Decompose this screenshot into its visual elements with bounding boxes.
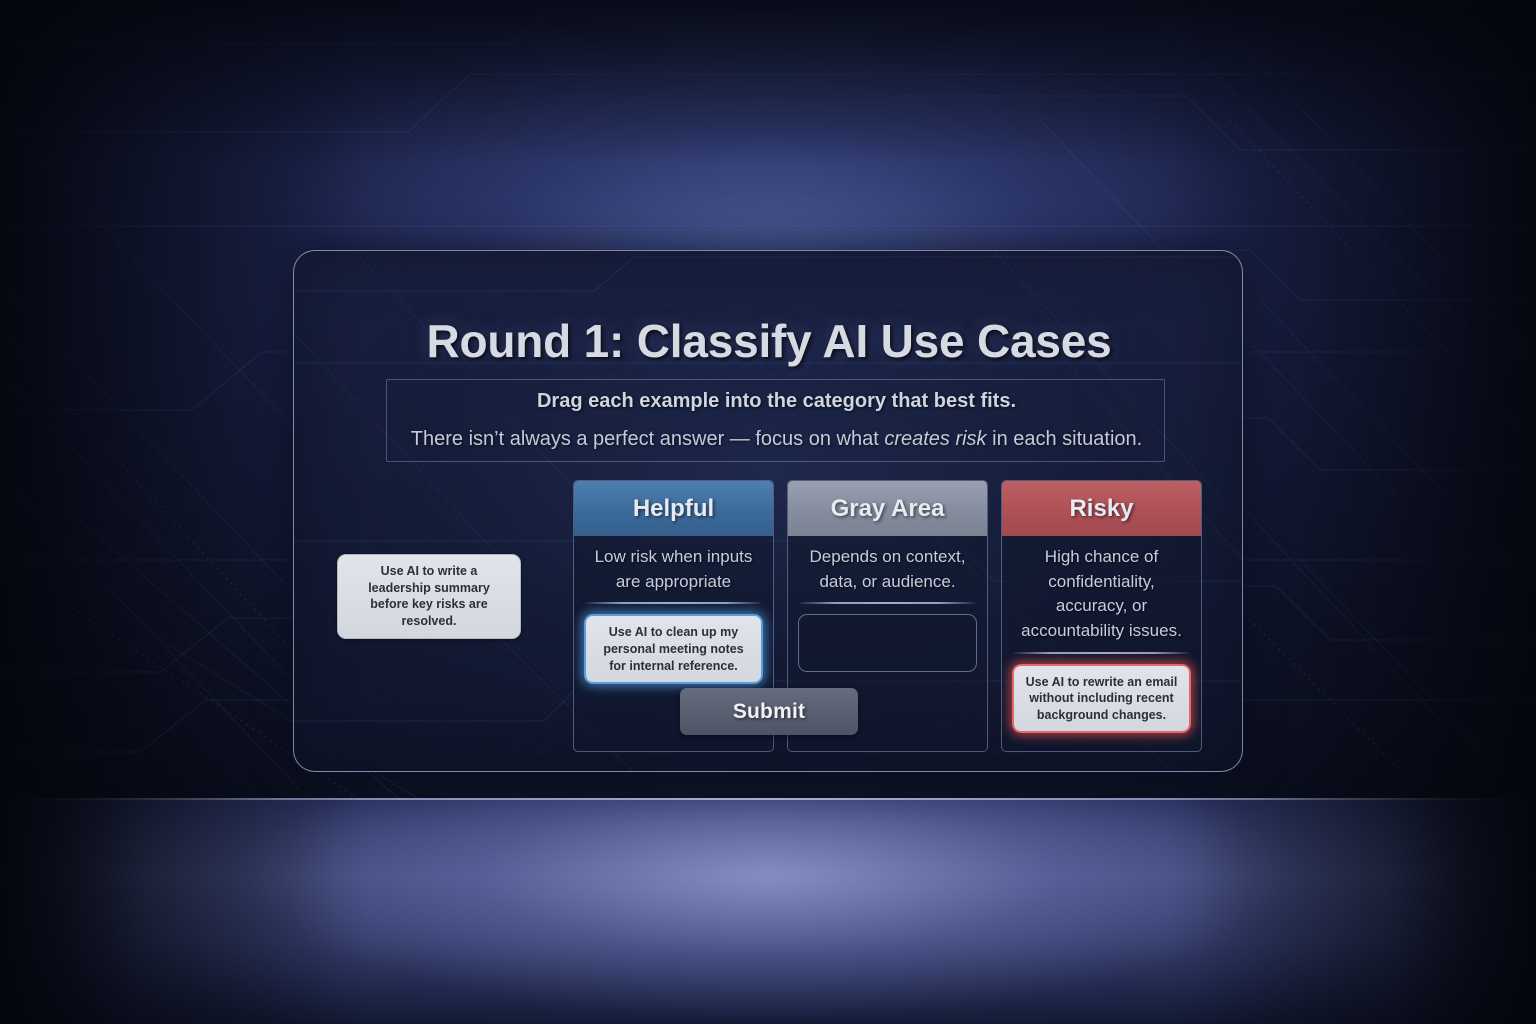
- submit-row: Submit: [294, 688, 1243, 735]
- instruction-secondary: There isn’t always a perfect answer — fo…: [387, 428, 1166, 451]
- category-description-risky: High chance of confidentiality, accuracy…: [1012, 545, 1191, 652]
- category-header-gray-area: Gray Area: [788, 481, 987, 536]
- floor-surface: [0, 800, 1536, 1024]
- category-divider-helpful: [586, 602, 761, 604]
- instruction-secondary-emphasis: creates risk: [884, 428, 986, 450]
- category-header-risky: Risky: [1002, 481, 1201, 536]
- page-title: Round 1: Classify AI Use Cases: [294, 314, 1243, 368]
- category-description-helpful: Low risk when inputs are appropriate: [584, 545, 763, 602]
- instruction-secondary-after: in each situation.: [987, 428, 1143, 450]
- scene-root: Round 1: Classify AI Use Cases Drag each…: [0, 0, 1536, 1024]
- instruction-primary: Drag each example into the category that…: [387, 390, 1166, 413]
- category-header-helpful: Helpful: [574, 481, 773, 536]
- submit-button[interactable]: Submit: [680, 688, 858, 735]
- activity-panel: Round 1: Classify AI Use Cases Drag each…: [293, 250, 1243, 772]
- category-divider-risky: [1014, 652, 1189, 654]
- instruction-secondary-before: There isn’t always a perfect answer — fo…: [411, 428, 885, 450]
- dropzone-helpful[interactable]: Use AI to clean up my personal meeting n…: [584, 614, 763, 684]
- draggable-card-unplaced[interactable]: Use AI to write a leadership summary bef…: [337, 554, 521, 639]
- instruction-box: Drag each example into the category that…: [386, 379, 1165, 462]
- category-description-gray-area: Depends on context, data, or audience.: [798, 545, 977, 602]
- draggable-card-meeting-notes[interactable]: Use AI to clean up my personal meeting n…: [584, 614, 763, 684]
- category-divider-gray-area: [800, 602, 975, 604]
- dropzone-gray-area[interactable]: [798, 614, 977, 672]
